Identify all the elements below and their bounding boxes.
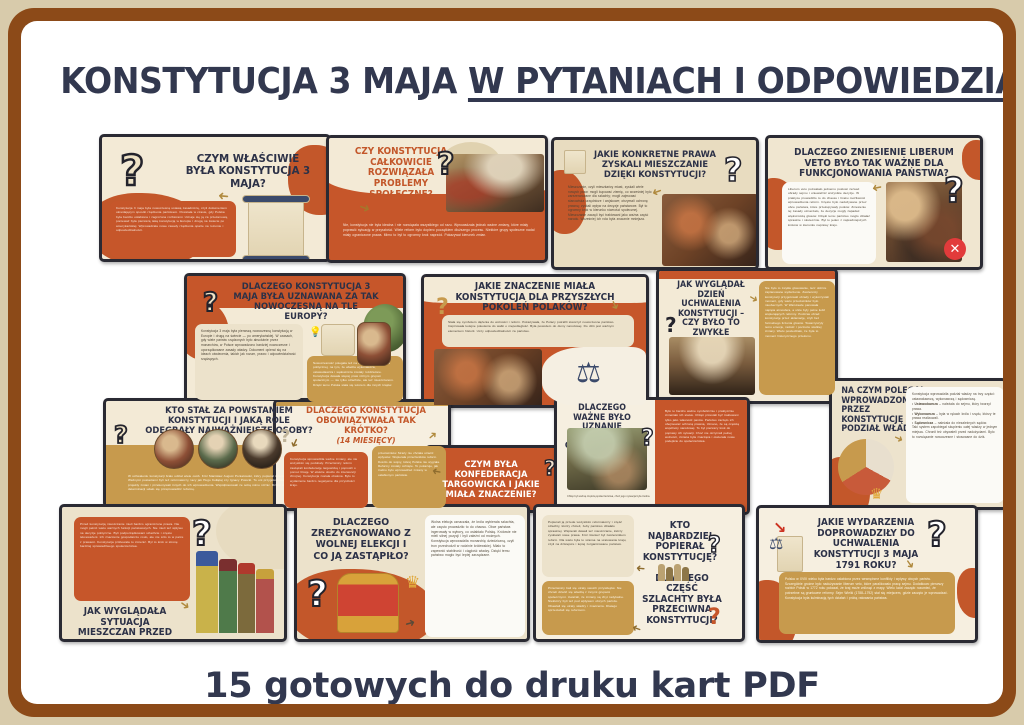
card-liberum-veto[interactable]: DLACZEGO ZNIESIENIE LIBERUM VETO BYŁO TA…: [765, 135, 983, 270]
page-title-underlined: W PYTANIACH I ODPOWIEDZIACH: [468, 61, 1003, 102]
question-mark-icon: ?: [944, 174, 964, 208]
card-body-text: Liberum veto pozwalało jednemu posłowi z…: [788, 187, 870, 227]
card-konfederacja-targowicka[interactable]: CZYM BYŁA KONFEDERACJA TARGOWICKA I JAKI…: [425, 445, 573, 513]
card-title: DLACZEGO KONSTYTUCJA 3 MAJA BYŁA UZNAWAN…: [233, 282, 380, 322]
card-subtitle: (14 MIESIĘCY): [299, 437, 433, 446]
bulb-icon: 💡: [309, 328, 321, 338]
card-czy-calkowicie[interactable]: CZY KONSTYTUCJA CAŁKOWICIE ROZWIĄZAŁA PR…: [326, 135, 548, 263]
card-body-box: Konstytucja wprowadziła podział władzy n…: [906, 387, 1003, 503]
card-body-box: Wolna elekcja oznaczała, że króla wybier…: [425, 515, 525, 637]
painting-icon: [567, 428, 647, 490]
curved-arrow-icon: ➜: [431, 465, 442, 477]
card-body-text: Popierali ją przede wszystkim reformator…: [548, 520, 628, 547]
card-dzien-uchwalenia[interactable]: JAK WYGLĄDAŁ DZIEŃ UCHWALENIA KONSTYTUCJ…: [656, 268, 838, 404]
card-body-box: Nie było to zwykłe głosowanie, lecz dobr…: [759, 281, 835, 395]
card-jakie-konkretne-prawa[interactable]: JAKIE KONKRETNE PRAWA ZYSKALI MIESZCZANI…: [551, 137, 759, 270]
card-body-box: Było to bardzo ważne symbolicznie i prak…: [659, 404, 747, 500]
card-body-text: Nie było to zwykłe głosowanie, lecz dobr…: [765, 286, 829, 338]
card-znaczenie-pokolen[interactable]: JAKIE ZNACZENIE MIAŁA KONSTYTUCJA DLA PR…: [421, 274, 649, 408]
card-title: CZYM WŁAŚCIWIE BYŁA KONSTYTUCJA 3 MAJA?: [185, 153, 311, 190]
painting-icon: [446, 154, 544, 212]
question-mark-icon: ?: [120, 150, 144, 192]
scroll-icon: [242, 255, 310, 262]
card-title: JAKIE ZNACZENIE MIAŁA KONSTYTUCJA DLA PR…: [452, 282, 618, 314]
crown-icon: ♛: [870, 487, 883, 502]
page-title-main: KONSTYTUCJA 3 MAJA: [60, 61, 468, 102]
pie-chart-icon: [838, 439, 894, 495]
card-body-box: Konstytucja wprowadziła ważne zmiany, al…: [284, 452, 368, 508]
card-body-box: Stała się symbolem dążenia do wolności i…: [442, 315, 634, 347]
card-body-box: Popierali ją przede wszystkim reformator…: [542, 515, 634, 577]
card-nowoczesna-europa[interactable]: DLACZEGO KONSTYTUCJA 3 MAJA BYŁA UZNAWAN…: [184, 273, 406, 405]
card-body-box: W uchwaleniu konstytucji brało udział wi…: [122, 469, 298, 505]
card-kto-popieral[interactable]: Popierali ją przede wszystkim reformator…: [533, 504, 745, 642]
portrait-icon: [242, 429, 282, 469]
question-mark-icon: ?: [436, 297, 449, 319]
question-mark-icon: ?: [544, 458, 556, 478]
card-body-text-2: Przeciwnicy bali się utraty swoich przyw…: [548, 586, 628, 613]
question-mark-icon: ?: [641, 428, 654, 450]
card-body-text: Konstytucja 3 maja była nowoczesną ustaw…: [116, 206, 230, 233]
question-mark-icon: ?: [203, 290, 218, 316]
curved-arrow-icon: ➜: [630, 622, 642, 635]
poster-page: KONSTYTUCJA 3 MAJA W PYTANIACH I ODPOWIE…: [0, 0, 1024, 725]
card-body-box: Liberum veto pozwalało jednemu posłowi z…: [782, 182, 876, 264]
card-body-box: Konstytucja 3 maja była nowoczesną ustaw…: [110, 201, 236, 257]
card-czym-wlasciwie[interactable]: ? CZYM WŁAŚCIWIE BYŁA KONSTYTUCJA 3 MAJA…: [99, 134, 331, 262]
scales-icon: ⚖: [769, 536, 783, 552]
curved-arrow-icon: ➜: [357, 201, 372, 217]
poster-canvas: KONSTYTUCJA 3 MAJA W PYTANIACH I ODPOWIE…: [21, 21, 1003, 704]
question-mark-icon: ?: [724, 154, 743, 186]
card-title: DLACZEGO KONSTYTUCJA OBOWIĄZYWAŁA TAK KR…: [299, 406, 433, 436]
card-body-text: Przed konstytucją mieszczanie mieli bard…: [80, 522, 184, 549]
card-bullet-1: • Ustawodawcza – należała do sejmu, któr…: [912, 402, 998, 411]
card-swash: [957, 568, 978, 618]
card-title: JAKIE KONKRETNE PRAWA ZYSKALI MIESZCZANI…: [587, 150, 723, 180]
card-body-text: Było to bardzo ważne symbolicznie i prak…: [665, 409, 741, 444]
card-swash: [962, 140, 983, 180]
portrait-icon: [198, 429, 238, 469]
page-title: KONSTYTUCJA 3 MAJA W PYTANIACH I ODPOWIE…: [60, 61, 963, 102]
painting-icon: [662, 194, 758, 266]
card-obowiazywala-krotko[interactable]: DLACZEGO KONSTYTUCJA OBOWIĄZYWAŁA TAK KR…: [273, 399, 451, 511]
scroll-icon: [248, 200, 304, 258]
card-title: JAK WYGLĄDAŁA SYTUACJA MIESZCZAN PRZED W…: [72, 607, 178, 642]
card-body-box: Polska w XVIII wieku była bardzo osłabio…: [779, 572, 955, 634]
card-body-box-2: Przeciwnicy bali się utraty swoich przyw…: [542, 581, 634, 635]
card-body-box: Konstytucja 3 maja była pierwszą nowocze…: [195, 324, 303, 400]
townspeople-illustration-icon: [196, 549, 274, 633]
red-x-icon: ✕: [944, 238, 966, 260]
scroll-icon: [242, 195, 310, 203]
card-body-text: Polska w XVIII wieku była bardzo osłabio…: [785, 577, 949, 600]
question-mark-icon: ?: [708, 607, 721, 629]
child-illustration-icon: [321, 324, 355, 356]
card-body-text: W uchwaleniu konstytucji brało udział wi…: [128, 474, 292, 492]
question-mark-icon: ?: [192, 517, 212, 551]
card-podzial-wladzy[interactable]: NA CZYM POLEGAŁ WPROWADZONY PRZEZ KONSTY…: [829, 378, 1003, 510]
card-body-text: Konstytucja wprowadziła ważne zmiany, al…: [290, 457, 362, 487]
card-body-text: Wolna elekcja oznaczała, że króla wybier…: [431, 520, 519, 558]
question-mark-icon: ?: [307, 577, 328, 613]
gavel-scroll-icon: [564, 150, 586, 174]
question-mark-icon: ?: [280, 428, 290, 446]
card-body-text: Konstytucja 3 maja była pierwszą nowocze…: [201, 329, 297, 361]
card-bullet-2: • Wykonawcza – była w rękach króla i rzą…: [912, 412, 998, 421]
question-mark-icon: ?: [927, 518, 947, 552]
poster-frame: KONSTYTUCJA 3 MAJA W PYTANIACH I ODPOWIE…: [8, 8, 1016, 717]
crown-icon: ♛: [405, 575, 420, 592]
card-body-box: Mieszczanie, czyli mieszkańcy miast, zys…: [562, 180, 658, 268]
card-title: DLACZEGO ZNIESIENIE LIBERUM VETO BYŁO TA…: [787, 148, 962, 180]
painting-icon: [669, 337, 755, 395]
question-mark-icon: ?: [114, 423, 128, 447]
question-mark-icon: ?: [437, 150, 454, 180]
card-title: KTO NAJBARDZIEJ POPIERAŁ KONSTYTUCJĘ?: [643, 521, 717, 564]
card-body-box: Nie, konstytucja nie była idealna i nie …: [337, 218, 542, 260]
card-body-text: Konstytucja wprowadziła podział władzy n…: [912, 392, 998, 401]
people-icon: [658, 563, 689, 581]
card-chlopi-narod[interactable]: DLACZEGO WAŻNE BYŁO UZNANIE CHŁOPÓW ZA C…: [554, 397, 750, 515]
card-jakie-wydarzenia[interactable]: JAKIE WYDARZENIA DOPROWADZIŁY DO UCHWALE…: [756, 505, 978, 643]
card-caption: Chłop był ważną częścią społeczeństwa, c…: [567, 495, 653, 499]
curved-arrow-icon: ➜: [636, 563, 646, 575]
card-body-end: Taki system zapobiegał skupieniu całej w…: [912, 425, 998, 439]
card-title: CZYM BYŁA KONFEDERACJA TARGOWICKA I JAKI…: [440, 460, 542, 500]
card-body-text: Stała się symbolem dążenia do wolności i…: [448, 320, 628, 333]
curved-arrow-icon: ➜: [217, 189, 229, 203]
curved-arrow-icon: ➜: [871, 181, 883, 195]
card-sytuacja-mieszczan[interactable]: Przed konstytucją mieszczanie mieli bard…: [59, 504, 287, 642]
card-wolna-elekcja[interactable]: DLACZEGO ZREZYGNOWANO Z WOLNEJ ELEKCJI I…: [294, 504, 530, 642]
card-body-text: Nie, konstytucja nie była idealna i nie …: [343, 223, 536, 237]
card-title: DLACZEGO ZREZYGNOWANO Z WOLNEJ ELEKCJI I…: [309, 517, 413, 562]
card-body-box: Przed konstytucją mieszczanie mieli bard…: [74, 517, 190, 601]
card-swash: [656, 268, 838, 279]
painting-icon: [434, 349, 542, 407]
question-mark-icon: ?: [665, 315, 677, 335]
portrait-icon: [154, 429, 194, 469]
throne-icon: [337, 573, 399, 633]
question-mark-icon: ?: [708, 535, 721, 557]
child-illustration-icon: [357, 322, 391, 366]
card-body-text: Mieszczanie, czyli mieszkańcy miast, zys…: [568, 185, 652, 222]
footer-text: 15 gotowych do druku kart PDF: [21, 666, 1003, 704]
scales-icon: ⚖: [576, 359, 601, 387]
